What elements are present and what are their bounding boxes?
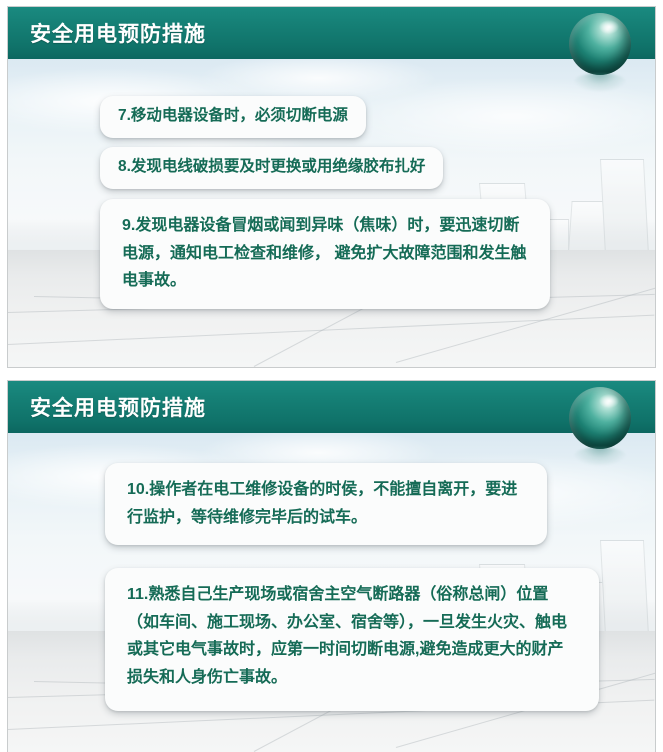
sphere-reflection-icon <box>574 73 626 91</box>
sphere-highlight-icon <box>599 394 619 408</box>
sphere-band-icon <box>569 406 631 449</box>
presentation-deck: 安全用电预防措施 <box>0 0 663 752</box>
sphere-reflection-icon <box>574 447 626 465</box>
slide-panel-2: 安全用电预防措施 <box>7 380 656 752</box>
callout-item-7: 7.移动电器设备时，必须切断电源 <box>100 96 366 138</box>
callout-item-8: 8.发现电线破损要及时更换或用绝缘胶布扎好 <box>100 147 443 189</box>
callout-item-9: 9.发现电器设备冒烟或闻到异味（焦味）时，要迅速切断电源，通知电工检查和维修， … <box>100 199 550 309</box>
callout-list-2: 10.操作者在电工维修设备的时侯，不能擅自离开，要进行监护，等待维修完毕后的试车… <box>8 433 655 752</box>
teal-sphere-logo-icon <box>569 387 631 449</box>
sphere-band-icon <box>569 32 631 75</box>
callout-list-1: 7.移动电器设备时，必须切断电源 8.发现电线破损要及时更换或用绝缘胶布扎好 9… <box>8 59 655 367</box>
page-title: 安全用电预防措施 <box>30 18 206 48</box>
teal-sphere-logo-icon <box>569 13 631 75</box>
sphere-highlight-icon <box>599 20 619 34</box>
logo-container <box>569 13 631 91</box>
slide-body-2: 10.操作者在电工维修设备的时侯，不能擅自离开，要进行监护，等待维修完毕后的试车… <box>8 433 655 752</box>
slide-panel-1: 安全用电预防措施 <box>7 6 656 368</box>
page-title: 安全用电预防措施 <box>30 392 206 422</box>
slide-header-1: 安全用电预防措施 <box>8 7 655 59</box>
callout-item-11: 11.熟悉自己生产现场或宿舍主空气断路器（俗称总闸）位置（如车间、施工现场、办公… <box>105 568 599 711</box>
slide-header-2: 安全用电预防措施 <box>8 381 655 433</box>
callout-item-10: 10.操作者在电工维修设备的时侯，不能擅自离开，要进行监护，等待维修完毕后的试车… <box>105 463 547 545</box>
logo-container <box>569 387 631 465</box>
slide-body-1: 7.移动电器设备时，必须切断电源 8.发现电线破损要及时更换或用绝缘胶布扎好 9… <box>8 59 655 367</box>
